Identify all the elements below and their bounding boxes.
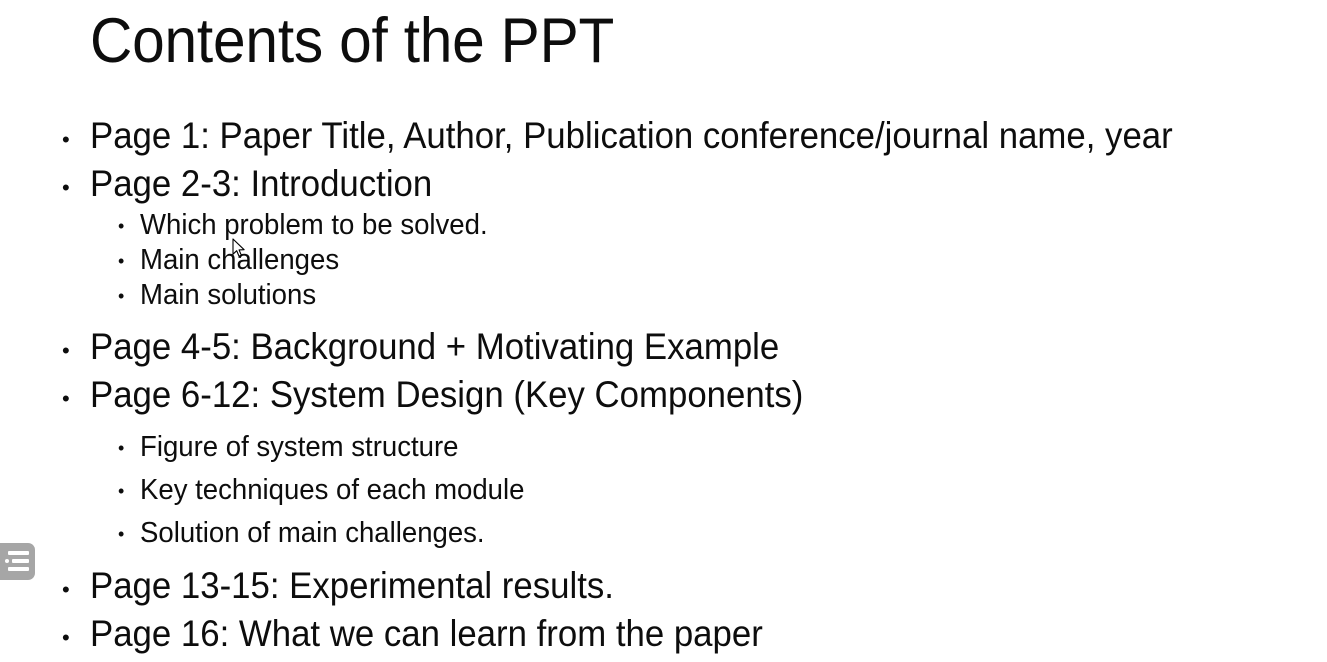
list-item[interactable]: • Page 2-3: Introduction <box>0 160 1327 208</box>
list-item-label: Solution of main challenges. <box>140 512 485 555</box>
bullet-marker: • <box>62 566 90 614</box>
bullet-marker: • <box>62 614 90 662</box>
bullet-marker: • <box>62 327 90 375</box>
list-item-label: Page 4-5: Background + Motivating Exampl… <box>90 323 779 371</box>
page-title: Contents of the PPT <box>90 2 614 80</box>
icon-bar <box>12 559 29 563</box>
list-item-label: Page 6-12: System Design (Key Components… <box>90 371 803 419</box>
bullet-marker: • <box>118 427 140 470</box>
outline-view-button[interactable] <box>0 543 35 580</box>
list-item[interactable]: • Key techniques of each module <box>0 469 1327 512</box>
list-item[interactable]: • Page 13-15: Experimental results. <box>0 562 1327 610</box>
bullet-list: • Page 1: Paper Title, Author, Publicati… <box>0 112 1327 658</box>
list-item-label: Key techniques of each module <box>140 469 524 512</box>
spacer <box>0 313 1327 323</box>
bullet-marker: • <box>62 375 90 423</box>
list-item[interactable]: • Solution of main challenges. <box>0 512 1327 555</box>
list-item-label: Page 2-3: Introduction <box>90 160 432 208</box>
list-item[interactable]: • Page 16: What we can learn from the pa… <box>0 610 1327 658</box>
icon-bar <box>8 551 29 555</box>
list-item[interactable]: • Which problem to be solved. <box>0 208 1327 243</box>
spacer <box>0 555 1327 562</box>
list-item[interactable]: • Page 1: Paper Title, Author, Publicati… <box>0 112 1327 160</box>
bullet-marker: • <box>118 513 140 556</box>
list-item[interactable]: • Page 6-12: System Design (Key Componen… <box>0 371 1327 419</box>
slide-canvas: Contents of the PPT • Page 1: Paper Titl… <box>0 0 1327 654</box>
bullet-marker: • <box>118 244 140 279</box>
list-item-label: Figure of system structure <box>140 426 458 469</box>
outline-list-icon <box>5 551 29 572</box>
bullet-marker: • <box>118 279 140 314</box>
list-item[interactable]: • Main challenges <box>0 243 1327 278</box>
list-item[interactable]: • Page 4-5: Background + Motivating Exam… <box>0 323 1327 371</box>
bullet-marker: • <box>62 116 90 164</box>
icon-bar <box>8 567 29 571</box>
icon-dot <box>5 559 9 563</box>
list-item[interactable]: • Figure of system structure <box>0 426 1327 469</box>
list-item-label: Main challenges <box>140 243 339 278</box>
bullet-marker: • <box>118 470 140 513</box>
list-item[interactable]: • Main solutions <box>0 278 1327 313</box>
list-item-label: Main solutions <box>140 278 316 313</box>
spacer <box>0 419 1327 426</box>
bullet-marker: • <box>62 164 90 212</box>
list-item-label: Page 1: Paper Title, Author, Publication… <box>90 112 1173 160</box>
list-item-label: Page 13-15: Experimental results. <box>90 562 614 610</box>
bullet-marker: • <box>118 209 140 244</box>
list-item-label: Page 16: What we can learn from the pape… <box>90 610 763 658</box>
list-item-label: Which problem to be solved. <box>140 208 488 243</box>
